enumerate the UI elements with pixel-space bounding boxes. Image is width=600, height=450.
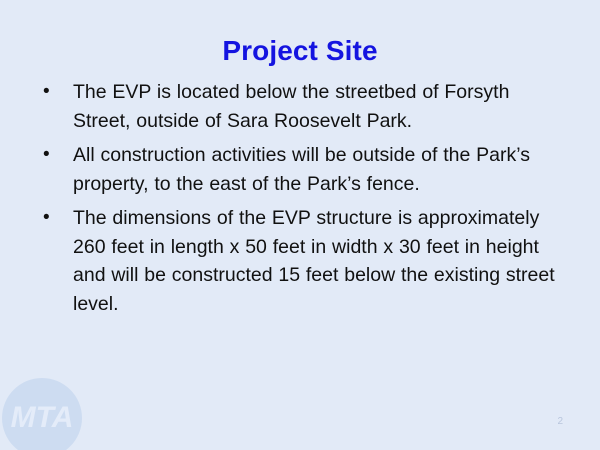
- slide-canvas: Project Site • The EVP is located below …: [0, 0, 600, 450]
- list-item-text: The dimensions of the EVP structure is a…: [73, 204, 564, 318]
- bullet-list: • The EVP is located below the streetbed…: [40, 78, 564, 324]
- page-number: 2: [557, 416, 563, 428]
- bullet-point-icon: •: [40, 204, 73, 232]
- mta-logo-icon: MTA: [1, 377, 83, 450]
- list-item-text: The EVP is located below the streetbed o…: [73, 78, 564, 135]
- bullet-point-icon: •: [40, 141, 73, 169]
- list-item: • All construction activities will be ou…: [40, 141, 564, 198]
- list-item: • The EVP is located below the streetbed…: [40, 78, 564, 135]
- bullet-point-icon: •: [40, 78, 73, 106]
- mta-logo-text: MTA: [11, 401, 74, 434]
- page-title: Project Site: [0, 34, 600, 68]
- list-item: • The dimensions of the EVP structure is…: [40, 204, 564, 318]
- list-item-text: All construction activities will be outs…: [73, 141, 564, 198]
